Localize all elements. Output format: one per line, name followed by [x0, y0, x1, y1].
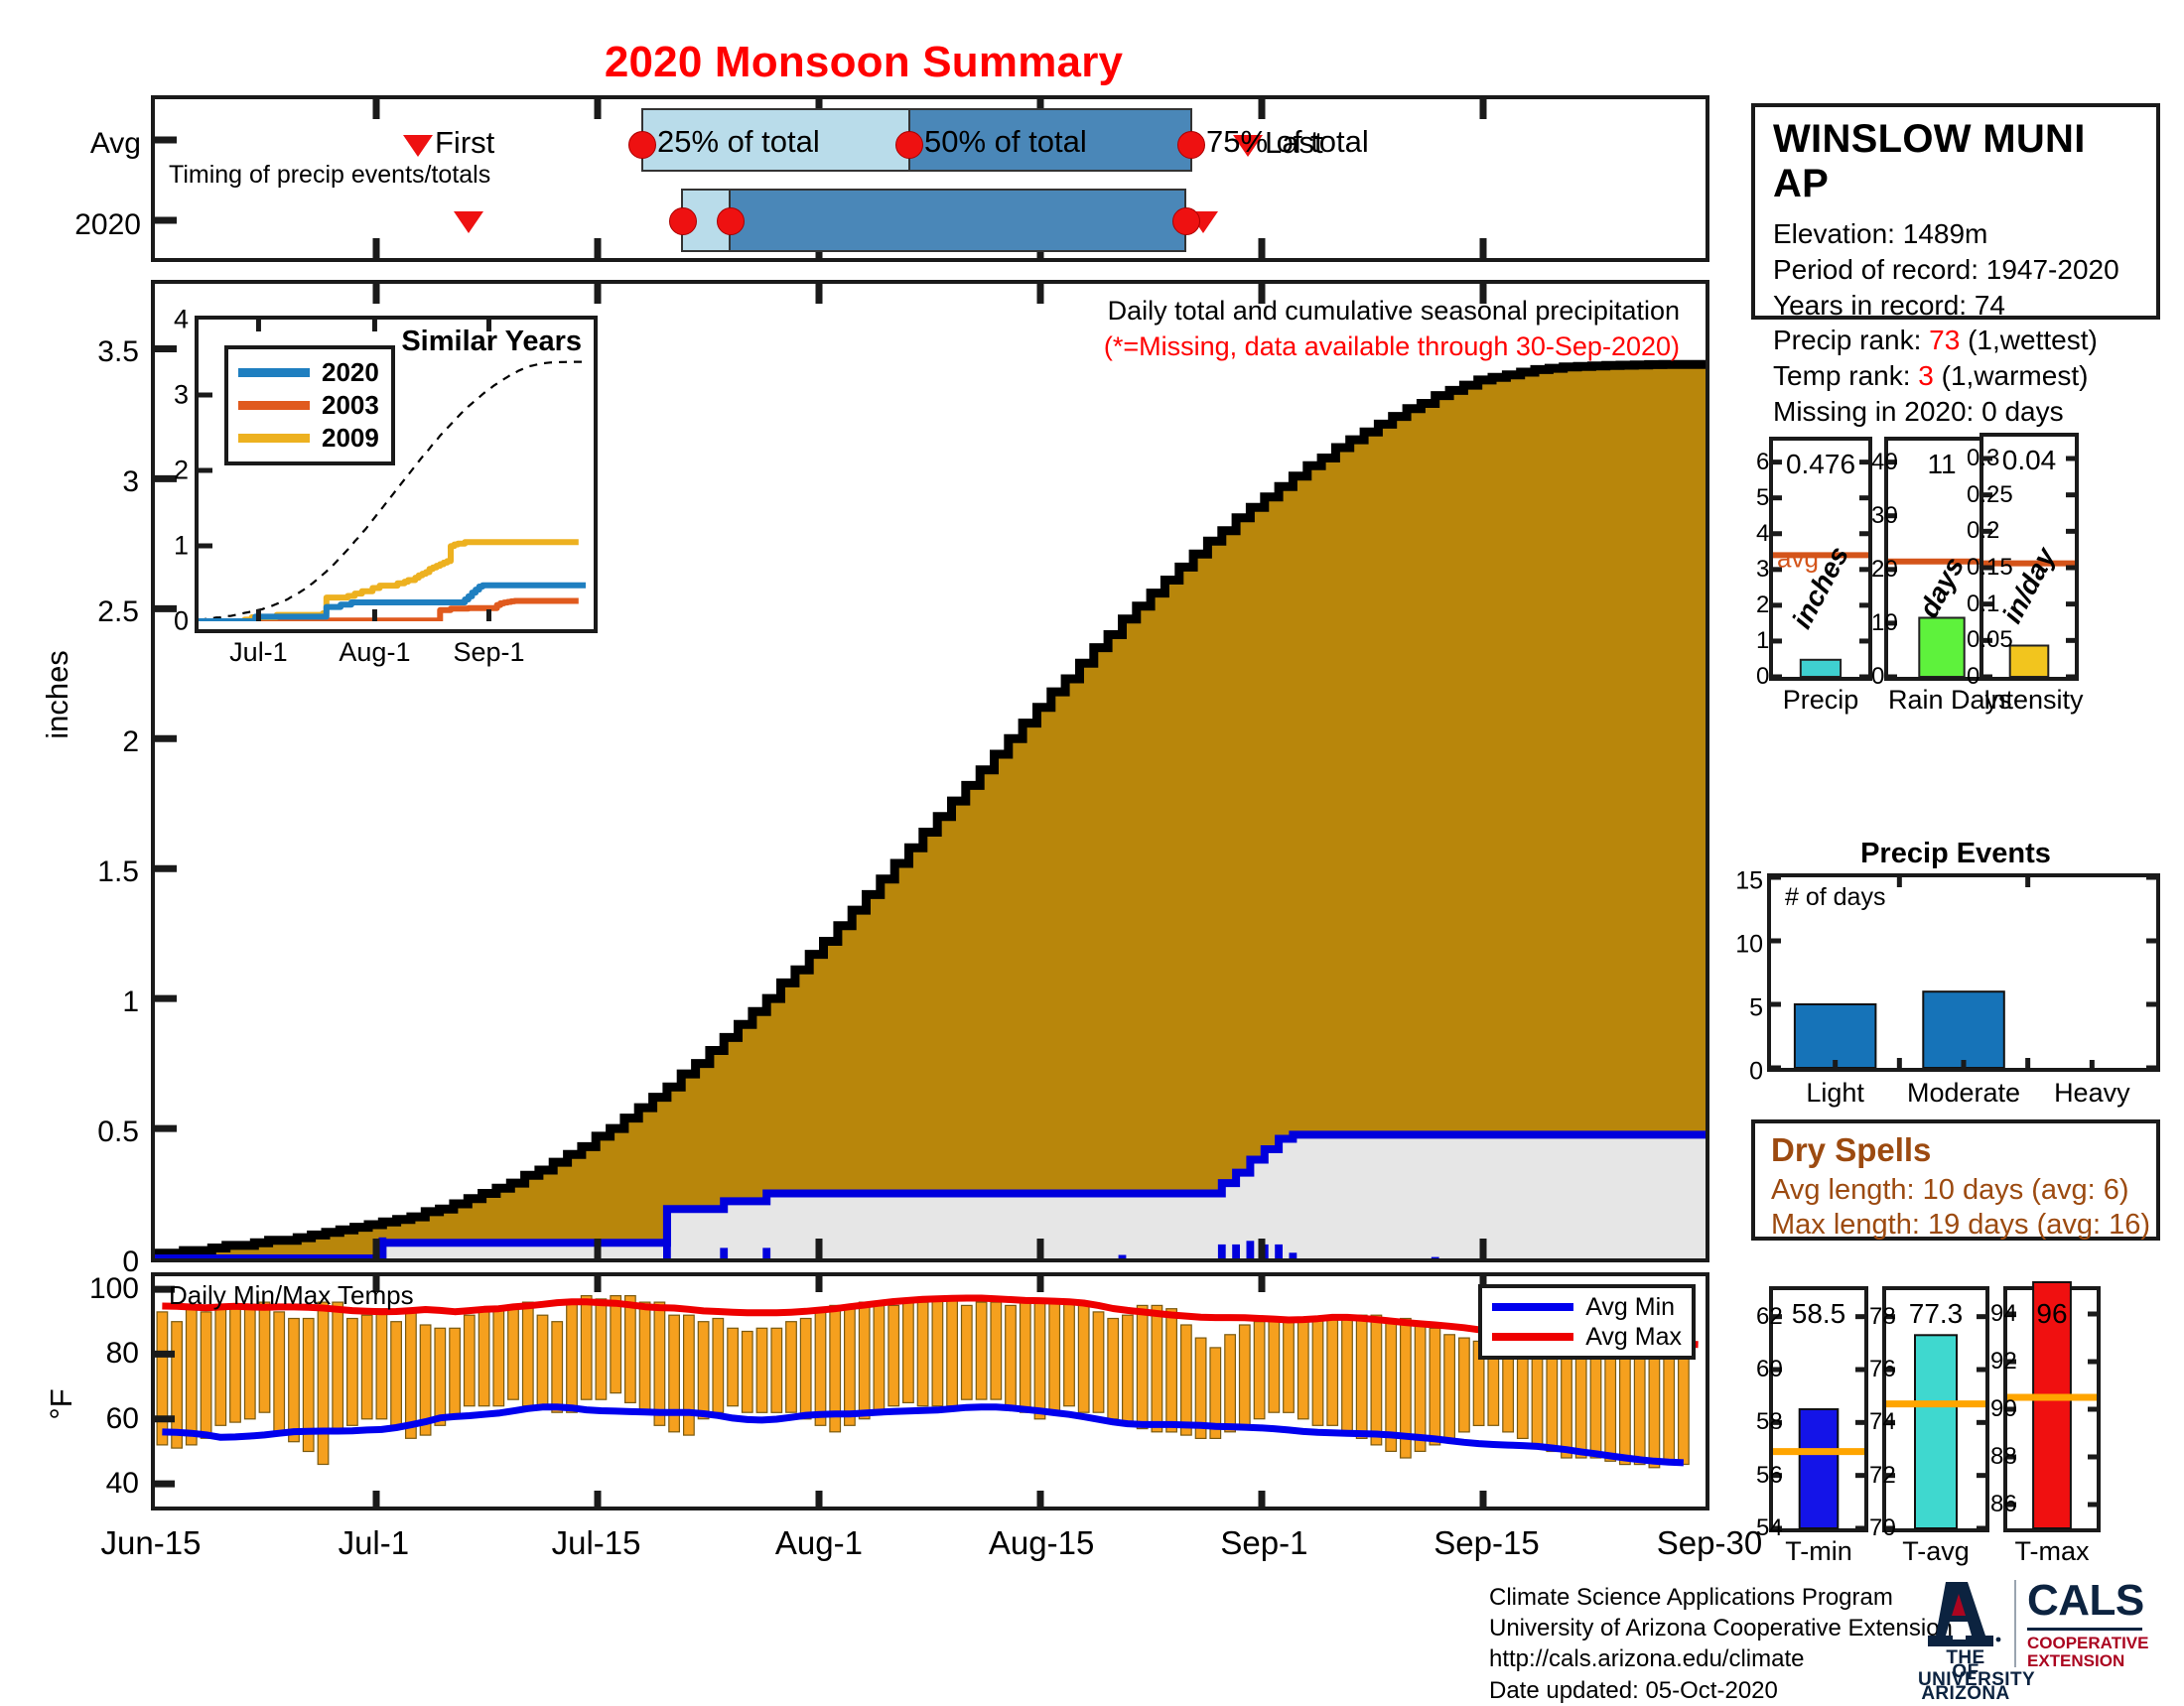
timing-row-label-year: 2020: [74, 208, 155, 242]
inset-x-tick: Aug-1: [339, 629, 410, 668]
legend-label-avg-max: Avg Max: [1585, 1323, 1682, 1352]
temp-legend: Avg Min Avg Max: [1478, 1284, 1696, 1360]
temp-rank-suffix: (1,warmest): [1934, 360, 2089, 391]
mini-stat-avg-label: avg: [1777, 544, 1819, 575]
year-q50-dot-icon: [717, 207, 745, 235]
mini-stat-y-tick: 40: [1871, 449, 1878, 476]
dry-spells-max: Max length: 19 days (avg: 16): [1771, 1208, 2140, 1243]
q25-label: 25% of total: [657, 124, 820, 160]
precip-y-tick: 0.5: [97, 1115, 155, 1149]
q25-dot-icon: [628, 131, 656, 159]
inset-legend: 2020 2003 2009: [224, 345, 395, 465]
mini-stat-y-tick: 0.05: [1967, 626, 1974, 654]
temp-y-tick: 40: [106, 1467, 155, 1501]
inset-title: Similar Years: [401, 326, 582, 358]
temperature-panel: Daily Min/Max Temps Avg Min Avg Max 4060…: [151, 1272, 1709, 1510]
similar-years-inset: Similar Years 2020 2003 2009 01234 Jul-1…: [195, 316, 598, 633]
temp-y-axis-label: °F: [44, 1388, 79, 1419]
temp-stat-y-tick: 70: [1869, 1514, 1876, 1542]
mini-stat-y-tick: 20: [1871, 556, 1878, 584]
temp-stat-y-tick: 54: [1756, 1514, 1763, 1542]
year-first-marker-icon: [454, 211, 483, 233]
logo-group: THE UNIVERSITY OF ARIZONA CALS COOPERATI…: [1916, 1574, 2164, 1673]
precip-header: Daily total and cumulative seasonal prec…: [1104, 294, 1680, 364]
precip-y-tick: 3: [122, 465, 155, 499]
x-axis-tick: Jul-15: [552, 1524, 641, 1562]
cals-divider: [2027, 1628, 2142, 1631]
inset-x-tick: Sep-1: [453, 629, 524, 668]
credits-line1: Climate Science Applications Program: [1489, 1582, 1953, 1613]
mini-stat-y-tick: 0: [1871, 663, 1878, 691]
mini-stat-y-tick: 0.3: [1967, 445, 1974, 472]
temp-stat-y-tick: 88: [1990, 1443, 1997, 1471]
cals-sub-line2: EXTENSION: [2027, 1651, 2124, 1670]
x-axis-tick: Jul-1: [339, 1524, 410, 1562]
mini-stat-y-tick: 0.1: [1967, 591, 1974, 618]
mini-stat-y-tick: 0: [1967, 663, 1974, 691]
temp-stat-caption: T-avg: [1886, 1528, 1985, 1567]
temp-stat-y-tick: 92: [1990, 1348, 1997, 1376]
precip-rank-prefix: Precip rank:: [1773, 325, 1929, 355]
mini-stat-y-tick: 0.2: [1967, 517, 1974, 545]
precip-events-y-tick: 10: [1735, 931, 1771, 960]
temp-stat-y-tick: 86: [1990, 1491, 1997, 1518]
temp-stat-y-tick: 56: [1756, 1462, 1763, 1490]
inset-y-tick: 0: [174, 606, 199, 637]
temp-stat-y-tick: 76: [1869, 1356, 1876, 1383]
mini-stat-y-tick: 1: [1756, 627, 1763, 655]
legend-row-2020: 2020: [238, 356, 379, 389]
q50-dot-icon: [895, 131, 923, 159]
temp-stat-t-max: 96T-max: [2003, 1286, 2101, 1532]
mini-stat-y-tick: 30: [1871, 502, 1878, 530]
credits-line4: Date updated: 05-Oct-2020: [1489, 1675, 1953, 1706]
temp-stat-y-tick: 94: [1990, 1300, 1997, 1328]
temp-rank-value: 3: [1918, 360, 1934, 391]
temp-y-tick: 100: [89, 1272, 155, 1306]
dry-spells-avg: Avg length: 10 days (avg: 6): [1771, 1173, 2140, 1208]
credits: Climate Science Applications Program Uni…: [1489, 1582, 1953, 1706]
precip-y-tick: 1.5: [97, 855, 155, 889]
precip-header-line1: Daily total and cumulative seasonal prec…: [1104, 294, 1680, 329]
temp-stat-y-tick: 74: [1869, 1408, 1876, 1436]
page-title: 2020 Monsoon Summary: [0, 38, 1727, 87]
legend-swatch-2020: [238, 368, 310, 377]
x-axis-tick: Sep-30: [1657, 1524, 1762, 1562]
station-precip-rank: Precip rank: 73 (1,wettest): [1773, 323, 2138, 358]
mini-stat-y-tick: 3: [1756, 556, 1763, 584]
temp-stat-y-tick: 78: [1869, 1303, 1876, 1331]
timing-note: Timing of precip events/totals: [169, 161, 490, 190]
year-q25-dot-icon: [669, 207, 697, 235]
mini-stat-caption: Intensity: [1983, 677, 2075, 716]
temp-y-tick: 80: [106, 1337, 155, 1371]
temp-stat-t-min: 58.5T-min: [1769, 1286, 1868, 1532]
inset-y-tick: 4: [174, 305, 199, 335]
precip-events-y-tick: 15: [1735, 867, 1771, 896]
first-label: First: [435, 125, 494, 161]
legend-row-avg-min: Avg Min: [1492, 1292, 1682, 1322]
station-info-box: WINSLOW MUNI AP Elevation: 1489m Period …: [1751, 103, 2160, 320]
mini-stat-y-tick: 0.15: [1967, 554, 1974, 582]
temp-stat-value: 77.3: [1886, 1298, 1985, 1330]
precip-events-note: # of days: [1785, 883, 1885, 912]
precip-events-x-tick: Heavy: [2054, 1068, 2130, 1109]
legend-label-2020: 2020: [322, 357, 379, 388]
temp-stat-value: 58.5: [1773, 1298, 1864, 1330]
temp-stat-t-avg: 77.3T-avg: [1882, 1286, 1989, 1532]
x-axis-tick: Aug-15: [989, 1524, 1094, 1562]
temp-stat-y-tick: 72: [1869, 1462, 1876, 1490]
precip-rank-value: 73: [1929, 325, 1960, 355]
temp-rank-prefix: Temp rank:: [1773, 360, 1918, 391]
legend-swatch-avg-max: [1492, 1333, 1573, 1341]
station-period: Period of record: 1947-2020: [1773, 252, 2138, 288]
credits-line3: http://cals.arizona.edu/climate: [1489, 1643, 1953, 1674]
station-missing: Missing in 2020: 0 days: [1773, 394, 2138, 430]
inset-y-tick: 1: [174, 531, 199, 562]
precip-y-tick: 3.5: [97, 335, 155, 369]
legend-swatch-avg-min: [1492, 1303, 1573, 1311]
precip-y-tick: 1: [122, 985, 155, 1019]
precip-events-y-tick: 5: [1749, 994, 1771, 1023]
mini-stat-precip: 0.476Precipinchesavg: [1769, 437, 1872, 681]
mini-stat-y-tick: 10: [1871, 609, 1878, 637]
mini-stat-y-tick: 2: [1756, 591, 1763, 619]
cals-logo-text: CALS: [2027, 1576, 2144, 1626]
precip-y-axis-label: inches: [40, 650, 75, 739]
legend-swatch-2003: [238, 401, 310, 410]
mini-stat-caption: Precip: [1773, 677, 1868, 716]
inset-x-tick: Jul-1: [229, 629, 288, 668]
timing-panel: Avg 2020 Timing of precip events/totals …: [151, 95, 1709, 262]
inset-y-tick: 3: [174, 380, 199, 411]
precip-events-x-tick: Moderate: [1907, 1068, 2020, 1109]
mini-stat-y-tick: 6: [1756, 449, 1763, 476]
precip-y-tick: 2.5: [97, 595, 155, 629]
legend-label-2003: 2003: [322, 390, 379, 421]
dry-spells-box: Dry Spells Avg length: 10 days (avg: 6) …: [1751, 1119, 2160, 1241]
ua-block-a-icon: [1928, 1582, 1993, 1646]
cals-sub-line1: COOPERATIVE: [2027, 1634, 2148, 1652]
first-marker-icon: [403, 135, 433, 157]
x-axis-tick: Aug-1: [775, 1524, 863, 1562]
station-temp-rank: Temp rank: 3 (1,warmest): [1773, 358, 2138, 394]
legend-row-avg-max: Avg Max: [1492, 1322, 1682, 1352]
temp-stat-y-tick: 62: [1756, 1303, 1763, 1331]
ua-logo-line2: OF ARIZONA: [1918, 1661, 2013, 1705]
temp-stat-value: 96: [2007, 1298, 2097, 1330]
legend-row-2003: 2003: [238, 389, 379, 422]
x-axis-tick: Sep-15: [1433, 1524, 1539, 1562]
x-axis-tick: Jun-15: [101, 1524, 202, 1562]
temp-stat-caption: T-max: [2007, 1528, 2097, 1567]
precip-rank-suffix: (1,wettest): [1960, 325, 2097, 355]
legend-label-avg-min: Avg Min: [1585, 1293, 1675, 1322]
dry-spells-title: Dry Spells: [1771, 1131, 2140, 1169]
q75-dot-icon: [1177, 131, 1205, 159]
temp-stat-y-tick: 90: [1990, 1395, 1997, 1423]
precip-events-title: Precip Events: [1751, 838, 2160, 870]
x-axis-tick: Sep-1: [1220, 1524, 1307, 1562]
temp-stat-y-tick: 60: [1756, 1356, 1763, 1383]
mini-stat-y-tick: 5: [1756, 484, 1763, 512]
credits-line2: University of Arizona Cooperative Extens…: [1489, 1613, 1953, 1643]
timing-row-label-avg: Avg: [90, 127, 155, 161]
mini-stat-y-tick: 0.25: [1967, 481, 1974, 509]
inset-y-tick: 2: [174, 456, 199, 486]
legend-swatch-2009: [238, 434, 310, 443]
temp-note: Daily Min/Max Temps: [169, 1280, 414, 1311]
legend-label-2009: 2009: [322, 423, 379, 454]
precip-events-panel: # of days 051015 LightModerateHeavy: [1767, 873, 2160, 1072]
precip-events-y-tick: 0: [1749, 1058, 1771, 1087]
station-years: Years in record: 74: [1773, 288, 2138, 324]
legend-row-2009: 2009: [238, 422, 379, 455]
mini-stat-value: 0.476: [1773, 449, 1868, 480]
temp-stat-y-tick: 58: [1756, 1408, 1763, 1436]
mini-stat-y-tick: 0: [1756, 663, 1763, 691]
q50-label: 50% of total: [924, 124, 1087, 160]
station-name: WINSLOW MUNI AP: [1773, 117, 2138, 206]
precip-y-tick: 2: [122, 725, 155, 759]
mini-stat-y-tick: 4: [1756, 520, 1763, 548]
temp-y-tick: 60: [106, 1402, 155, 1436]
q75-label: 75% of total: [1206, 124, 1369, 160]
year-q75-dot-icon: [1172, 207, 1200, 235]
station-elevation: Elevation: 1489m: [1773, 216, 2138, 252]
precip-header-line2: (*=Missing, data available through 30-Se…: [1104, 329, 1680, 365]
temp-stat-caption: T-min: [1773, 1528, 1864, 1567]
precip-events-x-tick: Light: [1806, 1068, 1864, 1109]
